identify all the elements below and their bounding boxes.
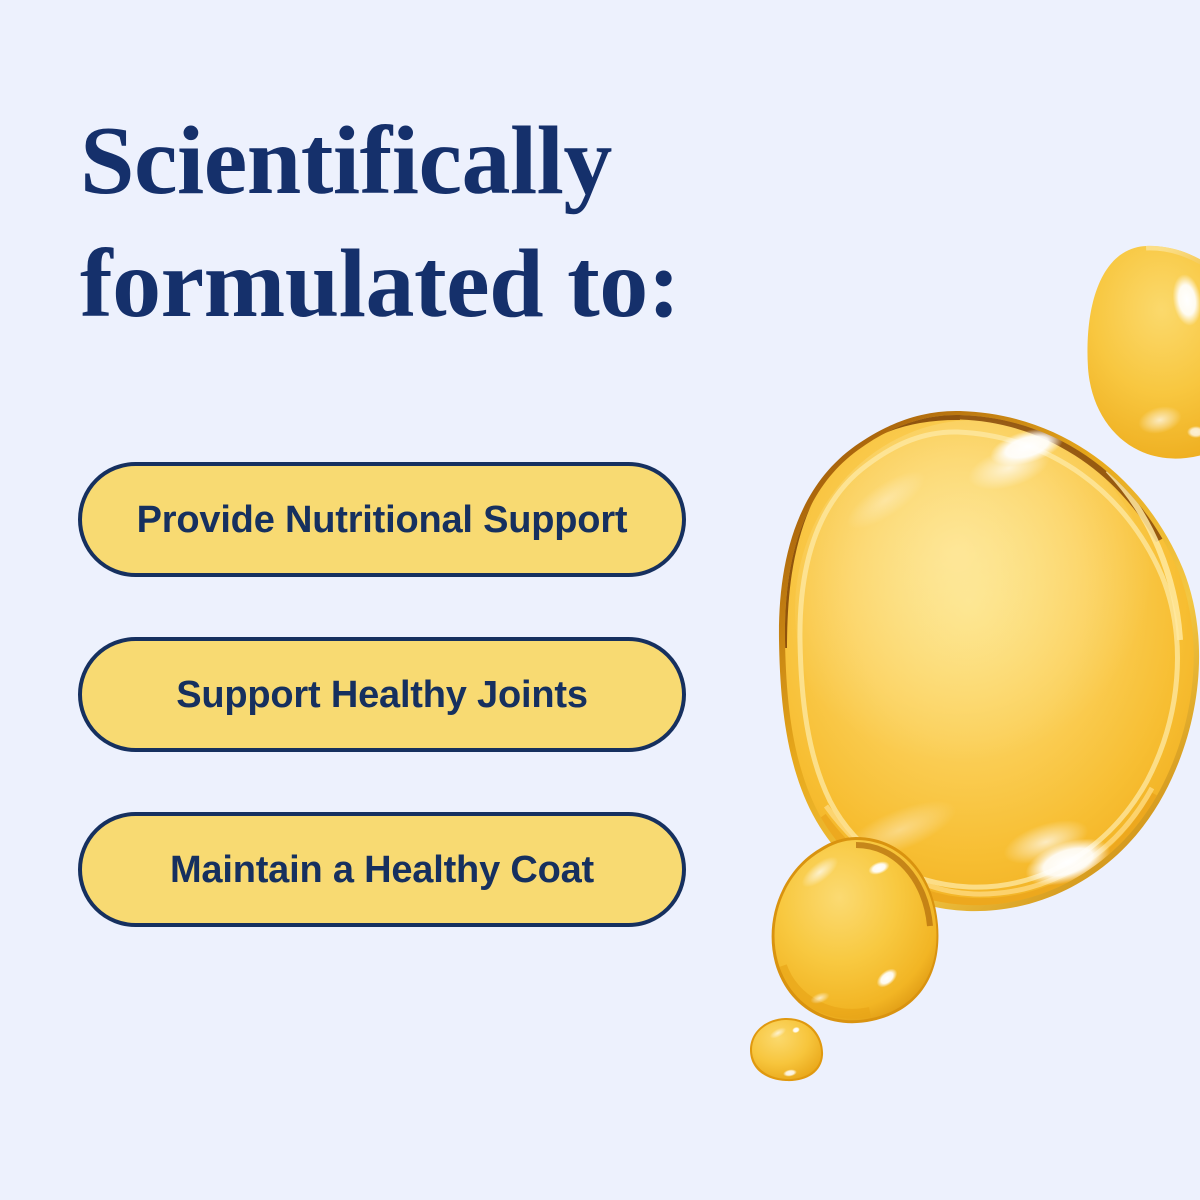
medium-oil-droplet <box>772 837 939 1023</box>
large-oil-droplet <box>779 411 1199 911</box>
page-title: Scientifically formulated to: <box>80 100 840 345</box>
benefit-label: Maintain a Healthy Coat <box>170 851 594 889</box>
small-oil-droplet <box>750 1018 823 1081</box>
benefit-pill-nutritional-support[interactable]: Provide Nutritional Support <box>78 462 686 577</box>
headline-line-1: Scientifically <box>80 100 840 223</box>
top-right-oil-droplet <box>1087 246 1200 459</box>
headline-line-2: formulated to: <box>80 223 840 346</box>
lower-specular-highlight <box>1020 829 1116 894</box>
benefit-label: Provide Nutritional Support <box>137 501 628 539</box>
upper-specular-highlight <box>986 421 1068 473</box>
benefit-pill-healthy-joints[interactable]: Support Healthy Joints <box>78 637 686 752</box>
top-right-highlight <box>1170 272 1200 327</box>
benefit-label: Support Healthy Joints <box>176 676 588 714</box>
promo-card: Scientifically formulated to: Provide Nu… <box>0 0 1200 1200</box>
benefit-pill-healthy-coat[interactable]: Maintain a Healthy Coat <box>78 812 686 927</box>
benefit-list: Provide Nutritional Support Support Heal… <box>78 462 690 927</box>
